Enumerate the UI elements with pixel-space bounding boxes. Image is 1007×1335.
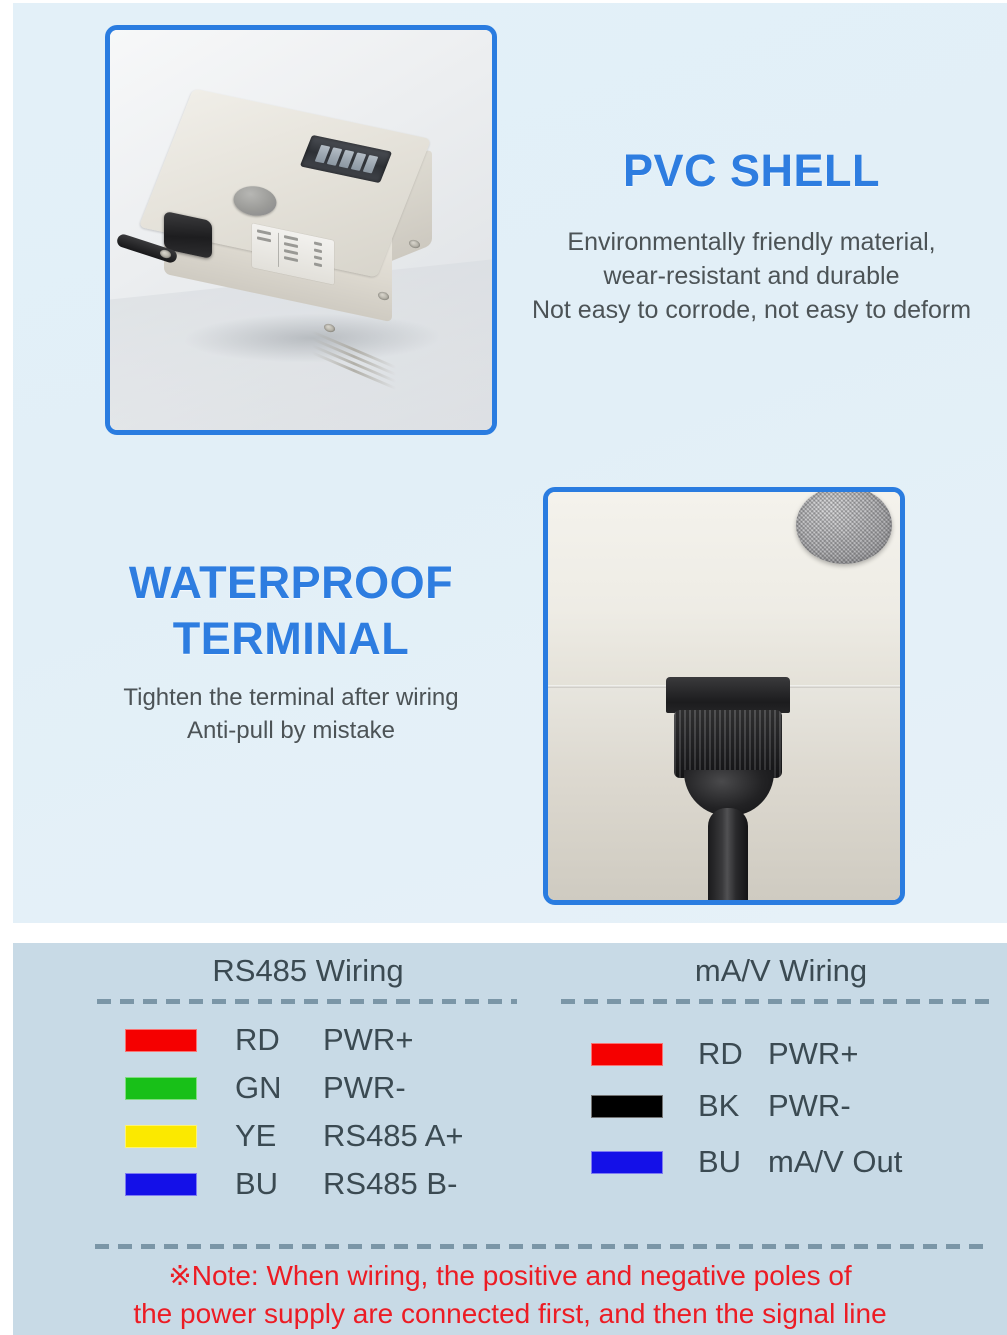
pvc-shell-product-photo bbox=[105, 25, 497, 435]
wire-function: PWR+ bbox=[323, 1022, 413, 1058]
table-row: BU mA/V Out bbox=[561, 1134, 1001, 1190]
table-row: RD PWR+ bbox=[561, 1030, 1001, 1078]
dashed-separator bbox=[97, 999, 517, 1004]
wire-code: BU bbox=[698, 1144, 768, 1180]
table-row: GN PWR- bbox=[83, 1064, 523, 1112]
waterproof-terminal-title: WATERPROOF TERMINAL bbox=[33, 555, 549, 667]
wiring-panel: RS485 Wiring RD PWR+ GN PWR- bbox=[13, 943, 1007, 1335]
waterproof-terminal-description: Tighten the terminal after wiring Anti-p… bbox=[33, 681, 549, 747]
rs485-wiring-header: RS485 Wiring bbox=[83, 943, 523, 991]
pvc-shell-desc-line-1: Environmentally friendly material, bbox=[567, 228, 935, 256]
wiring-note: ※Note: When wiring, the positive and neg… bbox=[13, 1257, 1007, 1333]
cable bbox=[708, 808, 748, 905]
table-row: YE RS485 A+ bbox=[83, 1112, 523, 1160]
wire-code: RD bbox=[235, 1022, 313, 1058]
note-dashed-separator bbox=[95, 1244, 985, 1249]
pvc-shell-desc-line-3: Not easy to corrode, not easy to deform bbox=[532, 296, 971, 324]
waterproof-terminal-title-line-2: TERMINAL bbox=[173, 613, 409, 664]
wiring-note-line-2: the power supply are connected first, an… bbox=[133, 1298, 886, 1329]
cable-gland-body bbox=[674, 710, 782, 778]
dashed-separator bbox=[561, 999, 991, 1004]
waterproof-terminal-title-line-1: WATERPROOF bbox=[129, 557, 453, 608]
photo-background bbox=[548, 492, 900, 900]
features-panel: PVC SHELL Environmentally friendly mater… bbox=[13, 3, 1007, 923]
pvc-shell-title: PVC SHELL bbox=[483, 143, 1007, 199]
wire-color-swatch-black bbox=[591, 1095, 663, 1118]
table-row: BU RS485 B- bbox=[83, 1160, 523, 1208]
wire-color-swatch-blue bbox=[591, 1151, 663, 1174]
wire-color-swatch-red bbox=[125, 1029, 197, 1052]
wire-color-swatch-yellow bbox=[125, 1125, 197, 1148]
waterproof-terminal-text-block: WATERPROOF TERMINAL Tighten the terminal… bbox=[33, 555, 549, 747]
sensor-device-illustration bbox=[156, 102, 448, 352]
wire-color-swatch-red bbox=[591, 1043, 663, 1066]
wire-color-swatch-green bbox=[125, 1077, 197, 1100]
wire-code: RD bbox=[698, 1036, 768, 1072]
table-row: RD PWR+ bbox=[83, 1016, 523, 1064]
ma-v-wiring-rows: RD PWR+ BK PWR- BU mA/V Out bbox=[561, 1030, 1001, 1190]
rs485-wiring-rows: RD PWR+ GN PWR- YE RS485 A+ bbox=[83, 1016, 523, 1208]
wiring-note-line-1: ※Note: When wiring, the positive and neg… bbox=[168, 1260, 851, 1291]
pvc-shell-description: Environmentally friendly material, wear-… bbox=[483, 225, 1007, 327]
waterproof-terminal-desc-line-2: Anti-pull by mistake bbox=[187, 717, 395, 744]
wire-code: BU bbox=[235, 1166, 313, 1202]
pvc-shell-desc-line-2: wear-resistant and durable bbox=[604, 262, 900, 290]
wire-code: BK bbox=[698, 1088, 768, 1124]
wire-code: YE bbox=[235, 1118, 313, 1154]
wire-function: PWR- bbox=[768, 1088, 851, 1124]
ma-v-wiring-table: mA/V Wiring RD PWR+ BK PWR- bbox=[561, 943, 1001, 1190]
wire-function: PWR- bbox=[323, 1070, 406, 1106]
wire-color-swatch-blue bbox=[125, 1173, 197, 1196]
wiring-tables: RS485 Wiring RD PWR+ GN PWR- bbox=[13, 943, 1007, 1243]
mesh-sensor-cap-icon bbox=[796, 487, 892, 564]
waterproof-terminal-product-photo bbox=[543, 487, 905, 905]
wire-function: PWR+ bbox=[768, 1036, 858, 1072]
wire-function: mA/V Out bbox=[768, 1144, 902, 1180]
cable-gland-nut bbox=[666, 677, 790, 713]
infographic-page: PVC SHELL Environmentally friendly mater… bbox=[0, 0, 1007, 1335]
wire-function: RS485 A+ bbox=[323, 1118, 463, 1154]
ma-v-wiring-header: mA/V Wiring bbox=[561, 943, 1001, 991]
wire-code: GN bbox=[235, 1070, 313, 1106]
pvc-shell-text-block: PVC SHELL Environmentally friendly mater… bbox=[483, 143, 1007, 327]
wire-function: RS485 B- bbox=[323, 1166, 457, 1202]
waterproof-terminal-desc-line-1: Tighten the terminal after wiring bbox=[123, 684, 458, 711]
rs485-wiring-table: RS485 Wiring RD PWR+ GN PWR- bbox=[83, 943, 523, 1208]
table-row: BK PWR- bbox=[561, 1078, 1001, 1134]
